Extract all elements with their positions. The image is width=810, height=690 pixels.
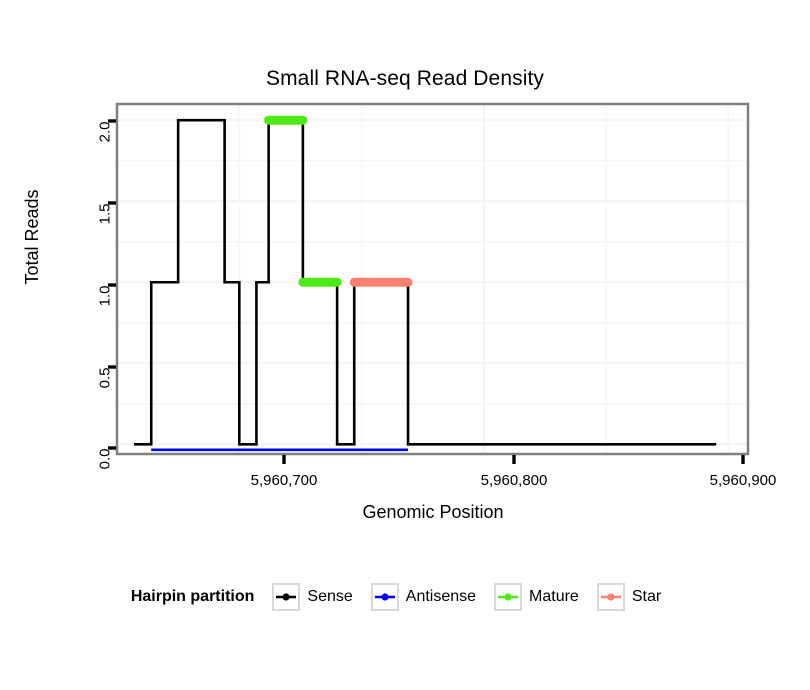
- x-axis-title: Genomic Position: [117, 501, 749, 523]
- legend-label: Star: [632, 588, 661, 606]
- legend-label: Mature: [529, 588, 579, 606]
- x-tick-label: 5,960,900: [683, 472, 803, 489]
- legend: Hairpin partition SenseAntisenseMatureSt…: [0, 583, 810, 611]
- y-tick-label: 2.0: [97, 122, 114, 162]
- legend-item-mature[interactable]: Mature: [494, 583, 593, 611]
- legend-label: Sense: [307, 588, 352, 606]
- legend-item-antisense[interactable]: Antisense: [371, 583, 490, 611]
- x-tick-label: 5,960,700: [224, 472, 344, 489]
- y-tick-label: 0.0: [97, 449, 114, 489]
- legend-key-icon: [371, 583, 399, 611]
- chart-title: Small RNA-seq Read Density: [0, 66, 810, 92]
- legend-title: Hairpin partition: [131, 588, 255, 606]
- y-tick-label: 1.0: [97, 286, 114, 326]
- legend-key-icon: [597, 583, 625, 611]
- legend-key-icon: [494, 583, 522, 611]
- legend-key-icon: [272, 583, 300, 611]
- y-tick-label: 0.5: [97, 368, 114, 408]
- x-tick-label: 5,960,800: [454, 472, 574, 489]
- y-tick-label: 1.5: [97, 204, 114, 244]
- legend-item-sense[interactable]: Sense: [272, 583, 366, 611]
- plot-panel-background: [117, 104, 748, 454]
- y-axis-title: Total Reads: [22, 157, 42, 317]
- legend-item-star[interactable]: Star: [597, 583, 675, 611]
- legend-label: Antisense: [406, 588, 476, 606]
- legend-items: SenseAntisenseMatureStar: [272, 583, 679, 611]
- chart-container: Small RNA-seq Read Density Total Reads 2…: [0, 0, 810, 690]
